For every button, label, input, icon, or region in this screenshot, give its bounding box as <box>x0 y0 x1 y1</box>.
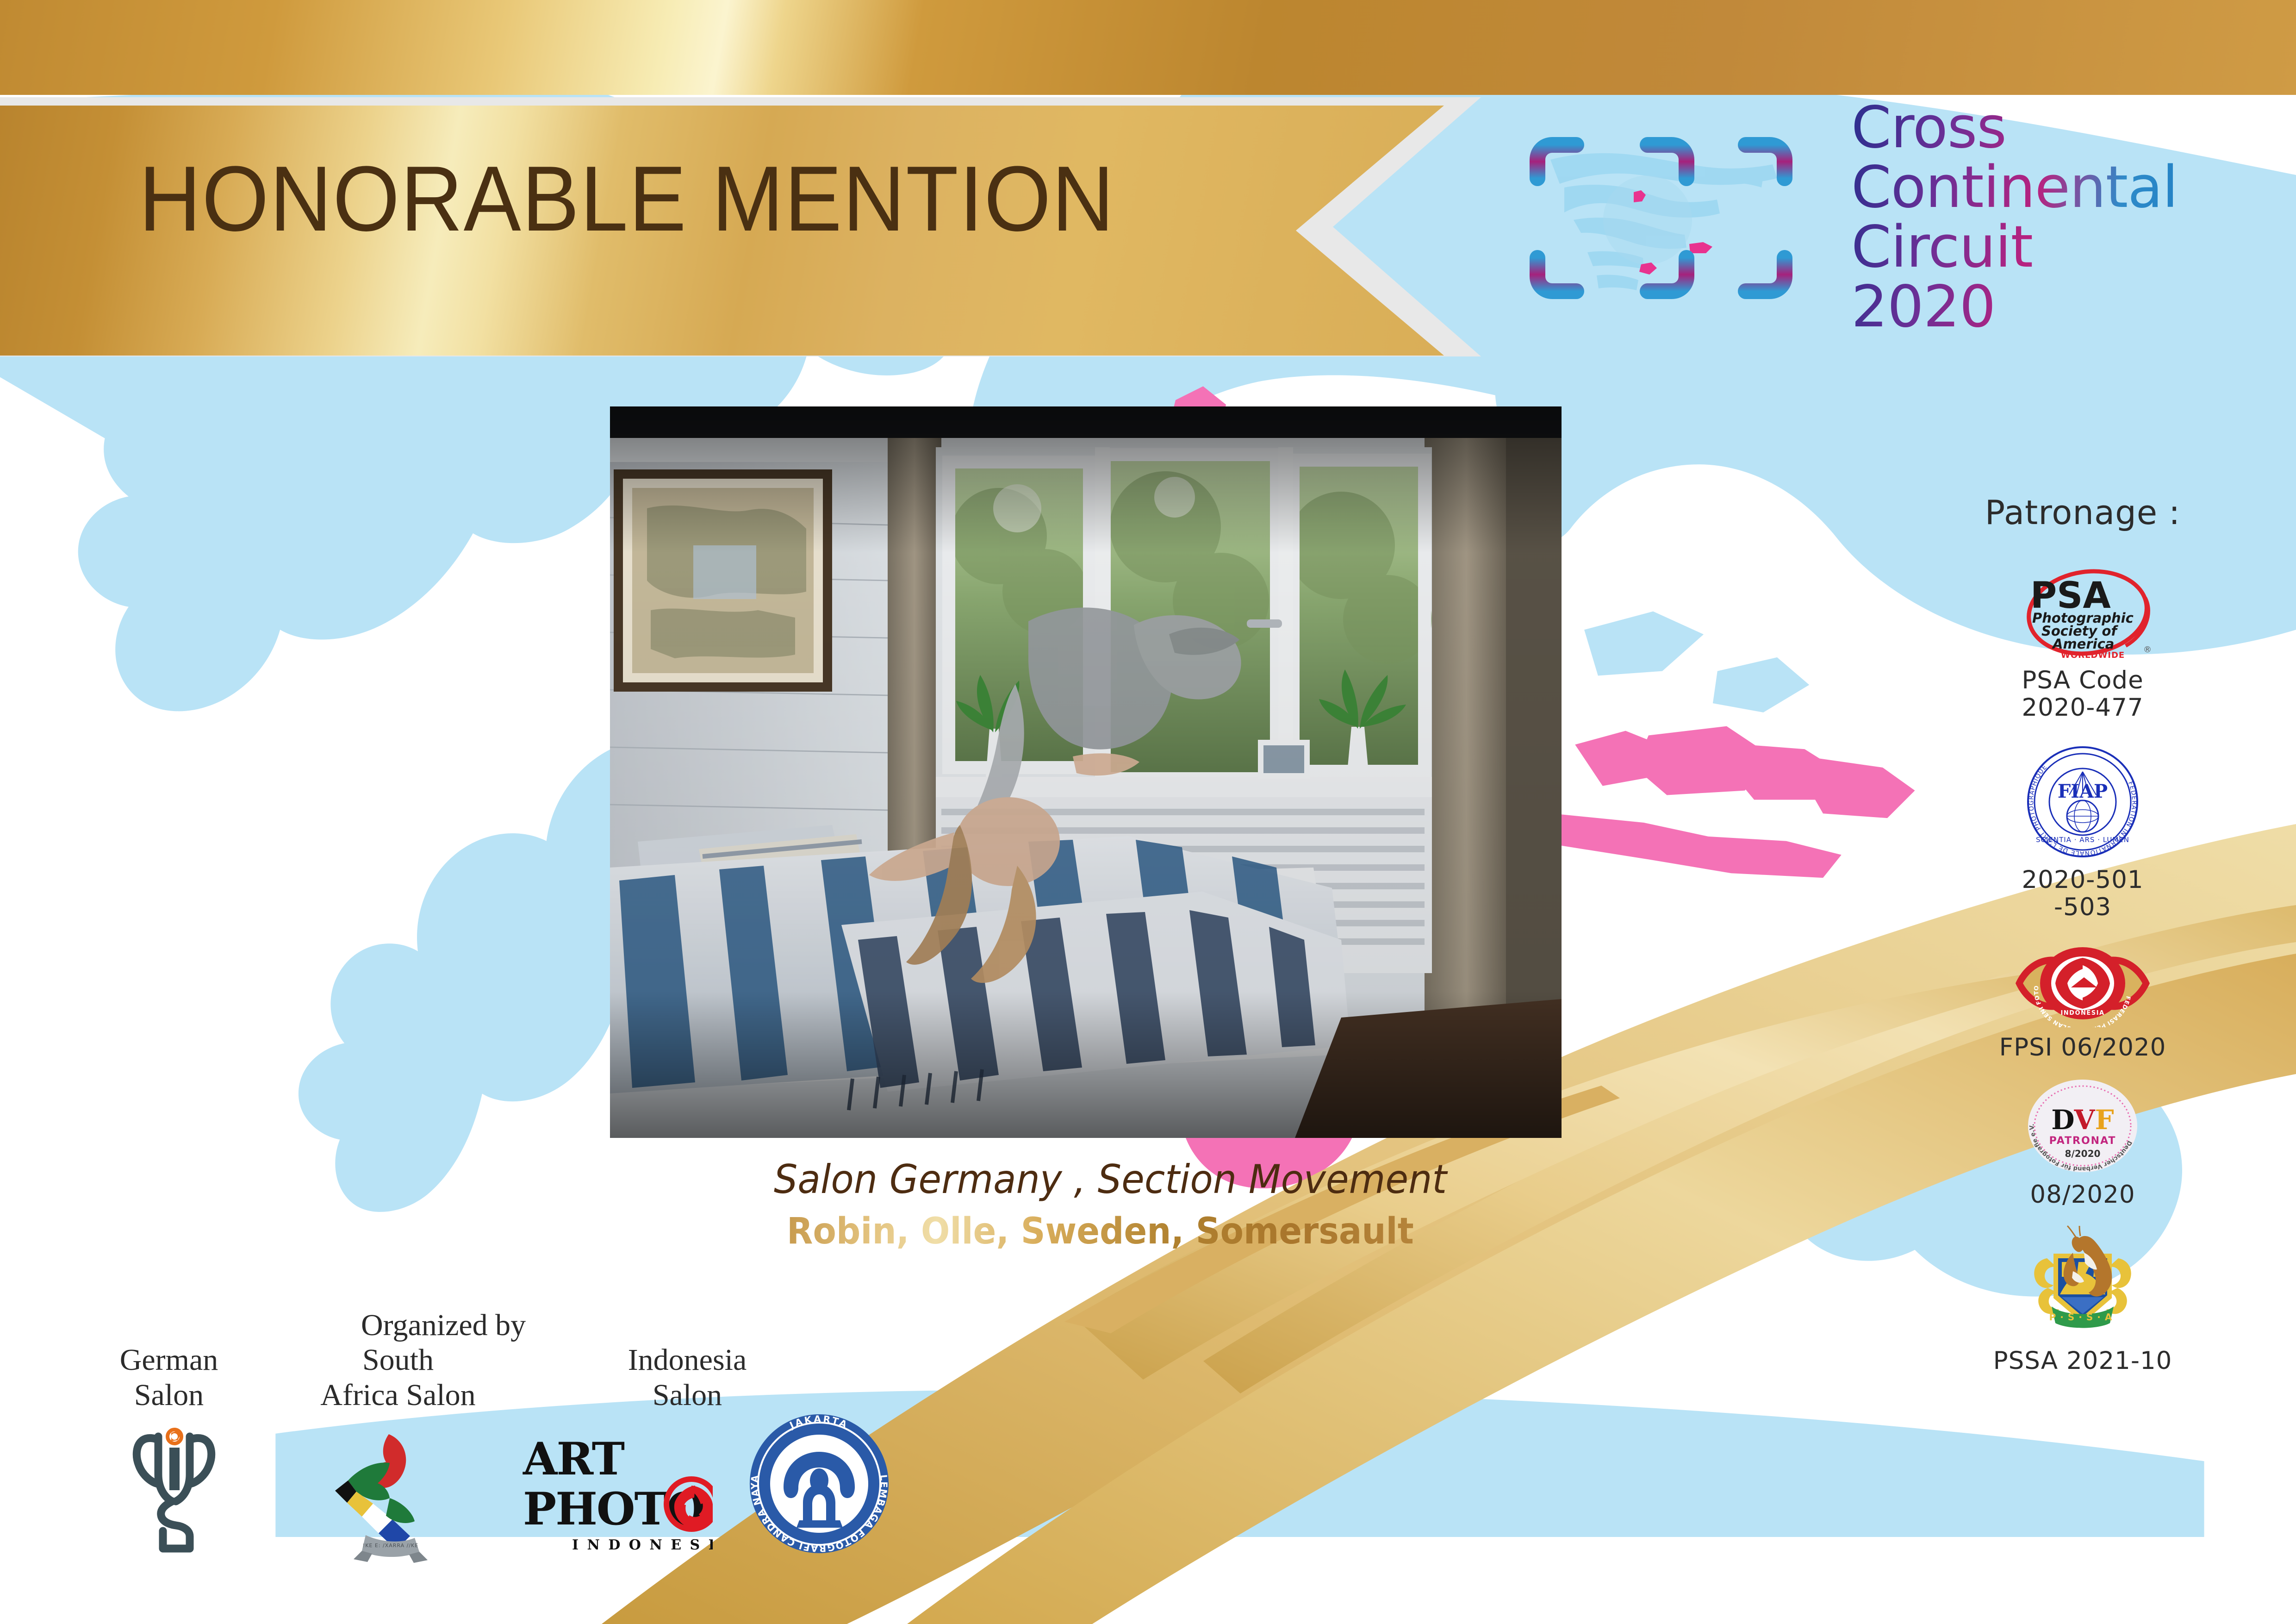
dvf-logo: Deutscher Verband für Fotografie e.V. DV… <box>1935 1077 2231 1174</box>
lembaga-fotografi-candra-naya-logo: LEMBAGA FOTOGRAFI CANDRA NAYA JAKARTA <box>747 1412 891 1558</box>
fiap-motto: SCIENTIA · ARS · LUMEN <box>2036 836 2129 844</box>
dvf-acronym: DVF <box>2051 1104 2114 1136</box>
organizer-indonesia-salon-label: Indonesia Salon <box>588 1343 787 1413</box>
patronage-item-psa: PSA Photographic Society of America WORL… <box>1935 565 2231 722</box>
fiap-code-caption: 2020-501 -503 <box>1935 866 2231 921</box>
patronage-item-fiap: FIAP FEDERATION INTERNATIONALE DE L'ART … <box>1935 744 2231 921</box>
psa-line-3: America <box>2052 636 2114 652</box>
patronage-heading: Patronage : <box>1935 493 2231 532</box>
german-salon-trophy-logo <box>120 1414 227 1565</box>
caption-salon-section: Salon Germany , Section Movement <box>774 1156 1447 1203</box>
fiap-acronym: FIAP <box>2058 781 2108 802</box>
art-photo-indonesia-logo: ART PHOTO I N D O N E S I A <box>518 1428 713 1565</box>
psa-code-caption: PSA Code 2020-477 <box>1935 667 2231 722</box>
logo-line-1: Cross <box>1851 98 2178 158</box>
award-title: HONORABLE MENTION <box>139 153 1115 245</box>
psa-registered-mark: ® <box>2143 645 2152 655</box>
caption-author-title: Robin, Olle, Sweden, Somersault <box>787 1211 1414 1252</box>
dvf-code-caption: 08/2020 <box>1935 1181 2231 1208</box>
patronage-item-dvf: Deutscher Verband für Fotografie e.V. DV… <box>1935 1077 2231 1208</box>
patronage-column: Patronage : PSA Photographic Society of … <box>1935 493 2231 1380</box>
art-photo-line-1: ART <box>523 1433 625 1485</box>
fpsi-logo: FEDERASI PERKUMPULAN SENI FOTO INDONESIA <box>1935 939 2231 1027</box>
pssa-acronym: P·S·S·A <box>2049 1312 2116 1323</box>
fpsi-code-caption: FPSI 06/2020 <box>1935 1034 2231 1061</box>
dvf-code: 8/2020 <box>2065 1148 2101 1159</box>
pssa-logo: P·S·S·A <box>1935 1225 2231 1341</box>
south-africa-coat-of-arms-logo: !KE E: /XARRA //KE <box>319 1426 454 1567</box>
circuit-logo: Cross Continental Circuit 2020 <box>1495 102 2282 333</box>
organizer-south-africa-salon: South Africa Salon <box>296 1343 500 1413</box>
logo-line-4: 2020 <box>1851 277 2178 337</box>
psa-logo: PSA Photographic Society of America WORL… <box>1935 565 2231 660</box>
certificate-canvas: HONORABLE MENTION <box>0 0 2296 1624</box>
organizer-german-salon: German Salon <box>93 1343 245 1413</box>
circuit-logo-text: Cross Continental Circuit 2020 <box>1851 98 2178 337</box>
pssa-code-caption: PSSA 2021-10 <box>1935 1347 2231 1374</box>
dvf-sub: PATRONAT <box>2049 1135 2116 1147</box>
organized-by-heading: Organized by <box>361 1308 526 1343</box>
circuit-logo-mark <box>1495 109 1837 326</box>
organizer-south-africa-salon-label: South Africa Salon <box>296 1343 500 1413</box>
fpsi-ring-bottom: INDONESIA <box>2060 1010 2104 1017</box>
south-africa-motto: !KE E: /XARRA //KE <box>363 1543 418 1549</box>
art-photo-line-3: I N D O N E S I A <box>572 1537 713 1553</box>
top-gold-strip <box>0 0 2296 95</box>
organizer-german-salon-label: German Salon <box>93 1343 245 1413</box>
logo-line-3: Circuit <box>1851 218 2178 277</box>
organizer-indonesia-salon: Indonesia Salon <box>588 1343 787 1413</box>
patronage-item-fpsi: FEDERASI PERKUMPULAN SENI FOTO INDONESIA… <box>1935 939 2231 1061</box>
fiap-logo: FIAP FEDERATION INTERNATIONALE DE L'ART … <box>1935 744 2231 860</box>
psa-line-4: WORLDWIDE <box>2061 650 2125 660</box>
logo-line-2: Continental <box>1851 158 2178 218</box>
awarded-photograph <box>610 406 1562 1138</box>
patronage-item-pssa: P·S·S·A PSSA 2021-10 <box>1935 1225 2231 1374</box>
